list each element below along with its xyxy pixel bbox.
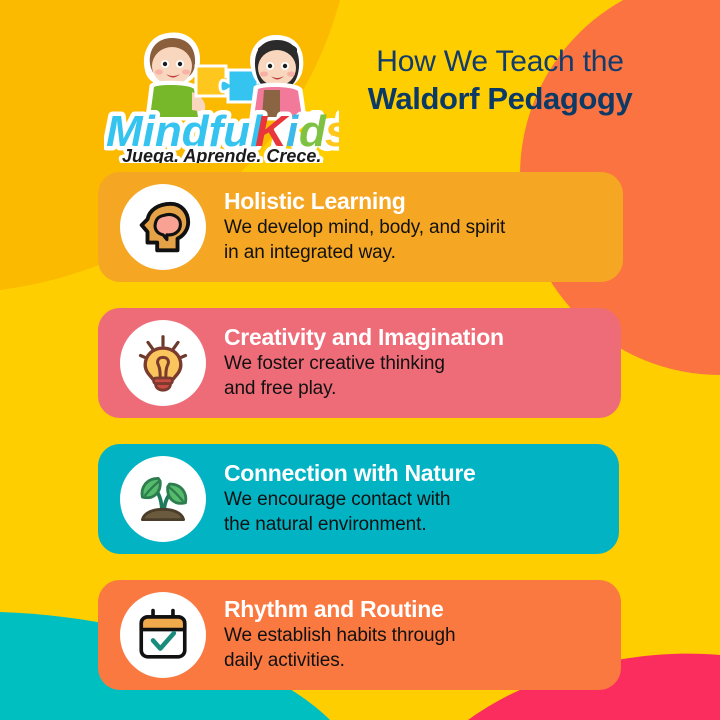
feature-card-connection-nature[interactable]: Connection with Nature We encourage cont… [98, 444, 619, 554]
card-title: Connection with Nature [224, 461, 609, 487]
page-title: How We Teach the Waldorf Pedagogy [340, 44, 660, 118]
infographic-poster: Mindful Kids Mindful K i d s Juega. Apre… [0, 0, 720, 720]
feature-card-creativity-imagination[interactable]: Creativity and Imagination We foster cre… [98, 308, 621, 418]
card-text-block: Creativity and Imagination We foster cre… [224, 325, 621, 402]
card-title: Rhythm and Routine [224, 597, 611, 623]
card-text-block: Connection with Nature We encourage cont… [224, 461, 619, 538]
card-text-block: Rhythm and Routine We establish habits t… [224, 597, 621, 674]
feature-card-rhythm-routine[interactable]: Rhythm and Routine We establish habits t… [98, 580, 621, 690]
lightbulb-icon [120, 320, 206, 406]
card-description: We establish habits through daily activi… [224, 623, 611, 673]
sprout-plant-icon [120, 456, 206, 542]
logo-tagline: Juega. Aprende. Crece. [122, 146, 321, 163]
logo-wordmark: Mindful Kids Mindful K i d s Juega. Apre… [106, 107, 339, 163]
card-title: Holistic Learning [224, 189, 613, 215]
feature-card-holistic-learning[interactable]: Holistic Learning We develop mind, body,… [98, 172, 623, 282]
title-line-1: How We Teach the [340, 44, 660, 79]
brand-logo: Mindful Kids Mindful K i d s Juega. Apre… [104, 18, 339, 163]
card-description: We foster creative thinking and free pla… [224, 351, 611, 401]
logo-letter-s: s [325, 107, 339, 156]
calendar-check-icon [120, 592, 206, 678]
card-description: We encourage contact with the natural en… [224, 487, 609, 537]
card-title: Creativity and Imagination [224, 325, 611, 351]
title-line-2: Waldorf Pedagogy [340, 81, 660, 118]
card-text-block: Holistic Learning We develop mind, body,… [224, 189, 623, 266]
card-description: We develop mind, body, and spirit in an … [224, 215, 613, 265]
poster-header: Mindful Kids Mindful K i d s Juega. Apre… [0, 0, 720, 170]
head-brain-icon [120, 184, 206, 270]
logo-girl-illustration [252, 38, 304, 118]
